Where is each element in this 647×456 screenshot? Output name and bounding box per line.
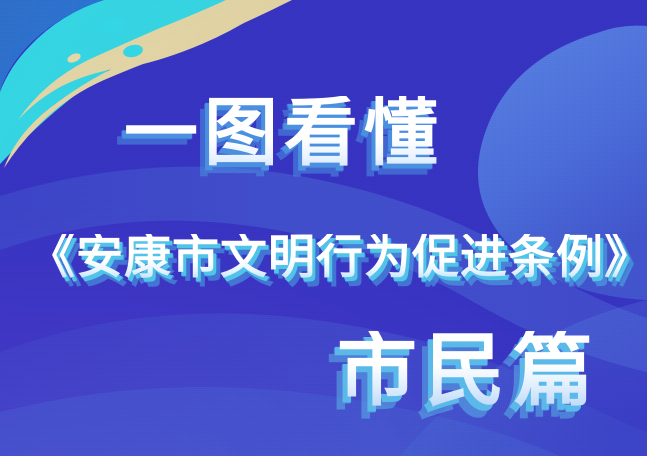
poster-headline: 一图看懂 [124, 96, 444, 170]
text-layer: 一图看懂 《安康市文明行为促进条例》 市民篇 [0, 0, 647, 456]
poster-kicker: 市民篇 [337, 331, 601, 411]
poster-subtitle: 《安康市文明行为促进条例》 [28, 234, 647, 281]
poster-canvas: 一图看懂 《安康市文明行为促进条例》 市民篇 [0, 0, 647, 456]
